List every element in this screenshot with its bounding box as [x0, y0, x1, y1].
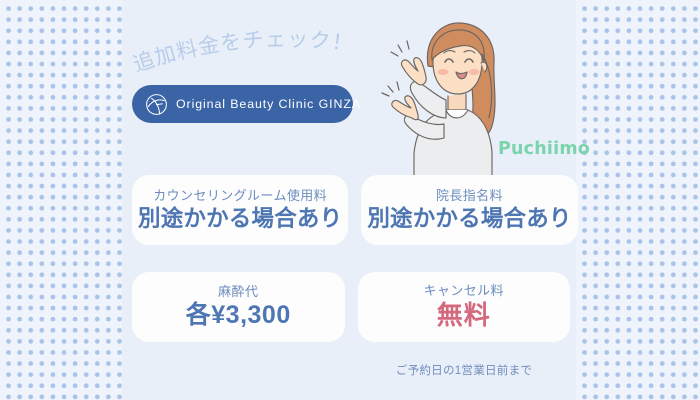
clinic-name-label: Original Beauty Clinic GINZA — [176, 97, 361, 111]
fee-card-value: 別途かかる場合あり — [138, 206, 342, 231]
fee-card-grid: カウンセリングルーム使用料 別途かかる場合あり 院長指名料 別途かかる場合あり … — [132, 175, 570, 342]
puchiimo-brand-logo: Puchiimo — [498, 139, 590, 159]
dot-pattern-left — [0, 0, 122, 400]
fee-card-label: キャンセル料 — [424, 284, 504, 298]
fee-card-value: 各¥3,300 — [186, 301, 291, 329]
fee-card-row-2: 麻酔代 各¥3,300 キャンセル料 無料 — [132, 272, 570, 342]
fee-card-value: 無料 — [437, 301, 491, 330]
fee-card-cancellation: キャンセル料 無料 — [358, 272, 571, 342]
fee-card-label: カウンセリングルーム使用料 — [153, 189, 327, 203]
fee-card-value: 別途かかる場合あり — [367, 206, 571, 231]
fee-card-counseling-room: カウンセリングルーム使用料 別途かかる場合あり — [132, 175, 348, 245]
fee-card-label: 麻酔代 — [218, 285, 258, 299]
woman-pointing-illustration — [368, 14, 528, 186]
circle-leaf-logo-icon — [145, 93, 168, 116]
promo-graphic: 追加料金をチェック！ Original Beauty Clinic GINZA — [0, 0, 700, 400]
dot-pattern-right — [576, 0, 700, 400]
fee-card-row-1: カウンセリングルーム使用料 別途かかる場合あり 院長指名料 別途かかる場合あり — [132, 175, 570, 245]
cancellation-footnote: ご予約日の1営業日前まで — [358, 362, 570, 378]
clinic-name-pill[interactable]: Original Beauty Clinic GINZA — [132, 85, 353, 123]
fee-card-anesthesia: 麻酔代 各¥3,300 — [132, 272, 345, 342]
fee-card-director-nomination: 院長指名料 別途かかる場合あり — [361, 175, 577, 245]
fee-card-label: 院長指名料 — [436, 189, 503, 203]
